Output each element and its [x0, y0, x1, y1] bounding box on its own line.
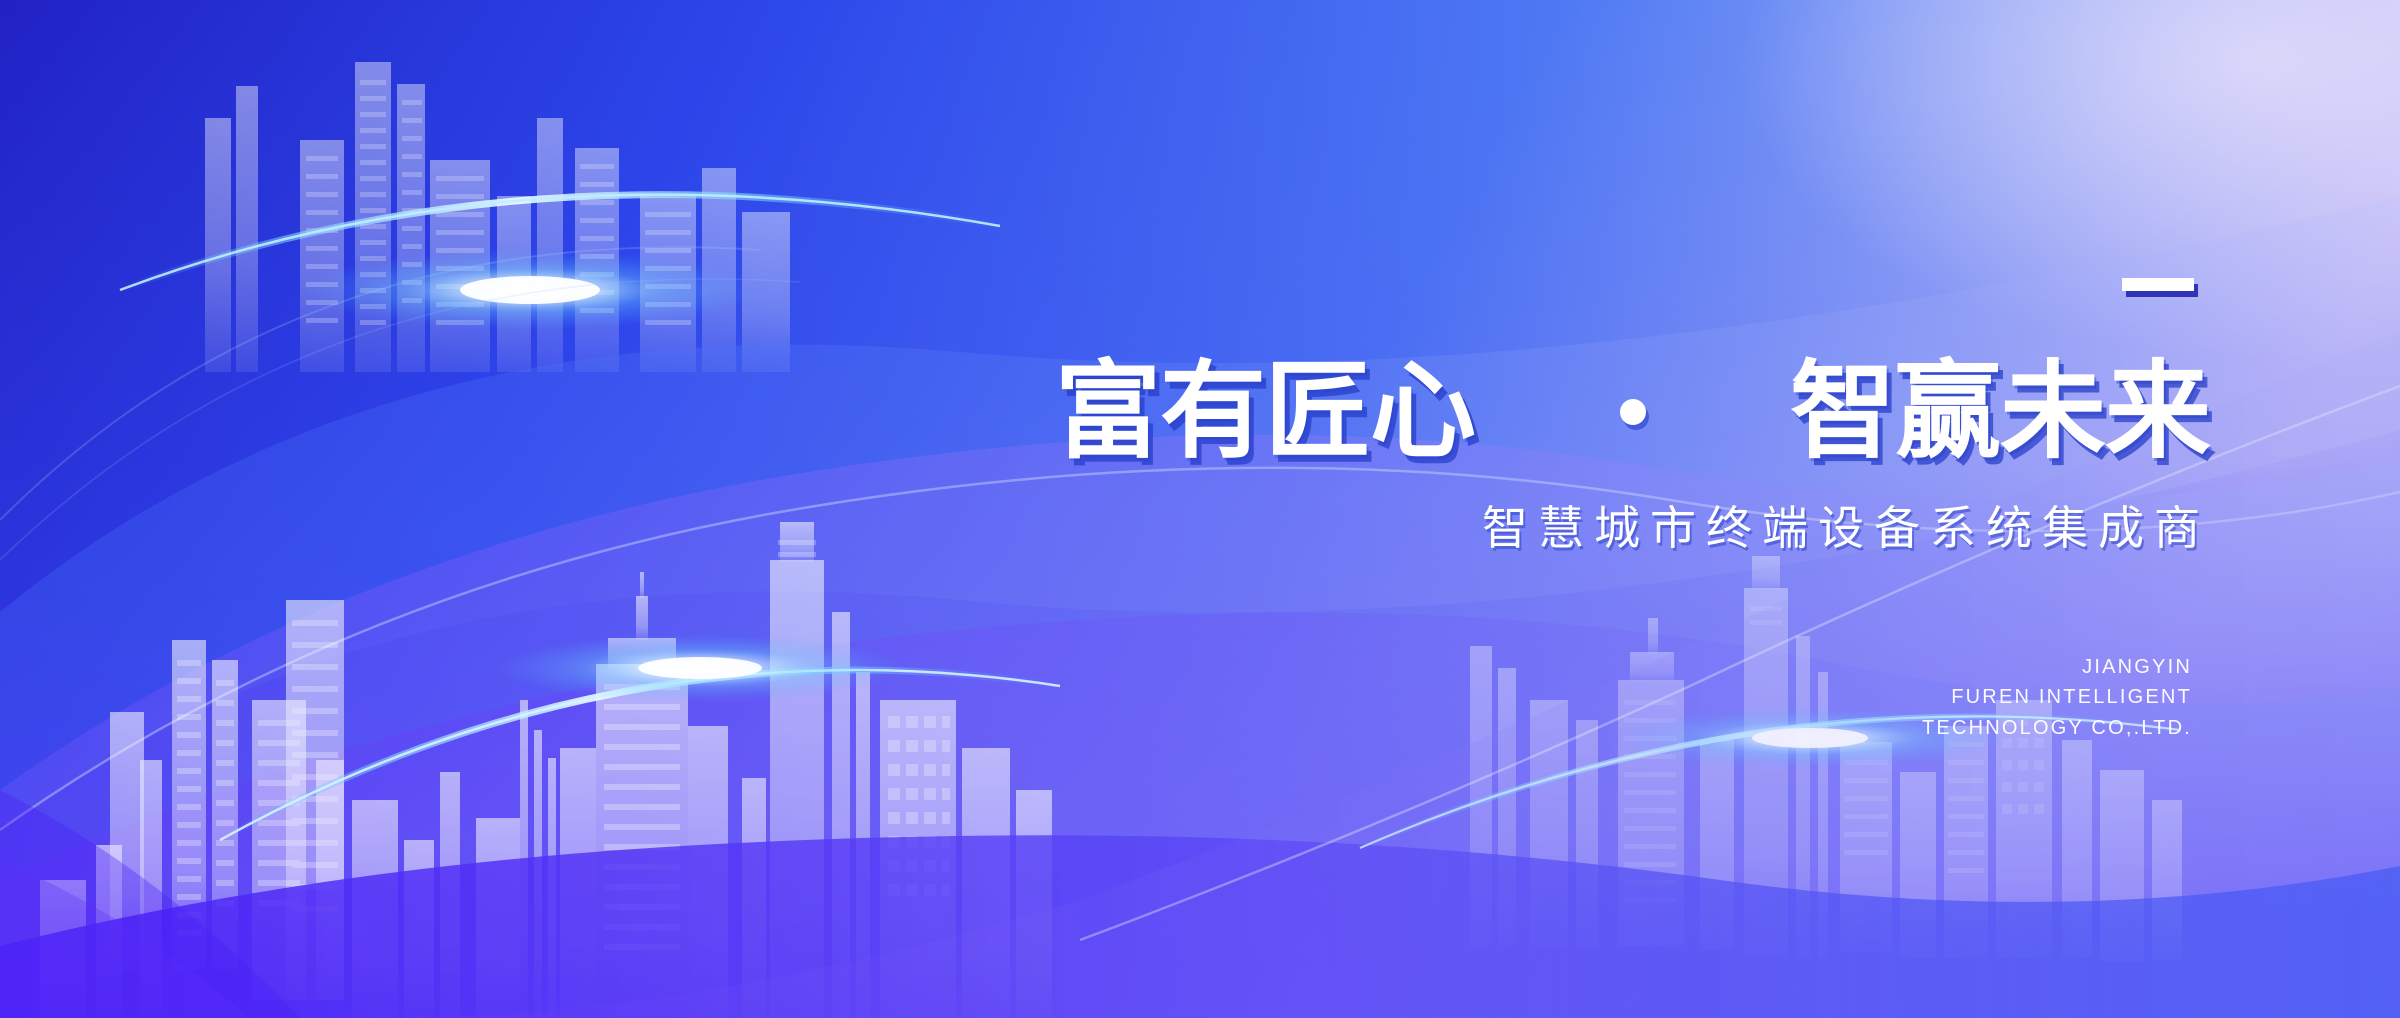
main-title: 富有匠心 智赢未来	[1055, 352, 2210, 472]
main-title-right: 智赢未来	[1790, 359, 2210, 465]
company-name-line-2: FUREN INTELLIGENT	[1772, 682, 2192, 712]
main-title-separator-dot	[1620, 399, 1646, 425]
subtitle: 智慧城市终端设备系统集成商	[1420, 505, 2210, 551]
company-name-en: JIANGYIN FUREN INTELLIGENT TECHNOLOGY CO…	[1772, 652, 2192, 743]
company-name-line-3: TECHNOLOGY CO,.LTD.	[1772, 713, 2192, 743]
promo-banner: 富有匠心 智赢未来 智慧城市终端设备系统集成商 JIANGYIN FUREN I…	[0, 0, 2400, 1018]
main-title-left: 富有匠心	[1055, 359, 1475, 465]
company-name-line-1: JIANGYIN	[1772, 652, 2192, 682]
decor-dash	[2122, 278, 2194, 291]
